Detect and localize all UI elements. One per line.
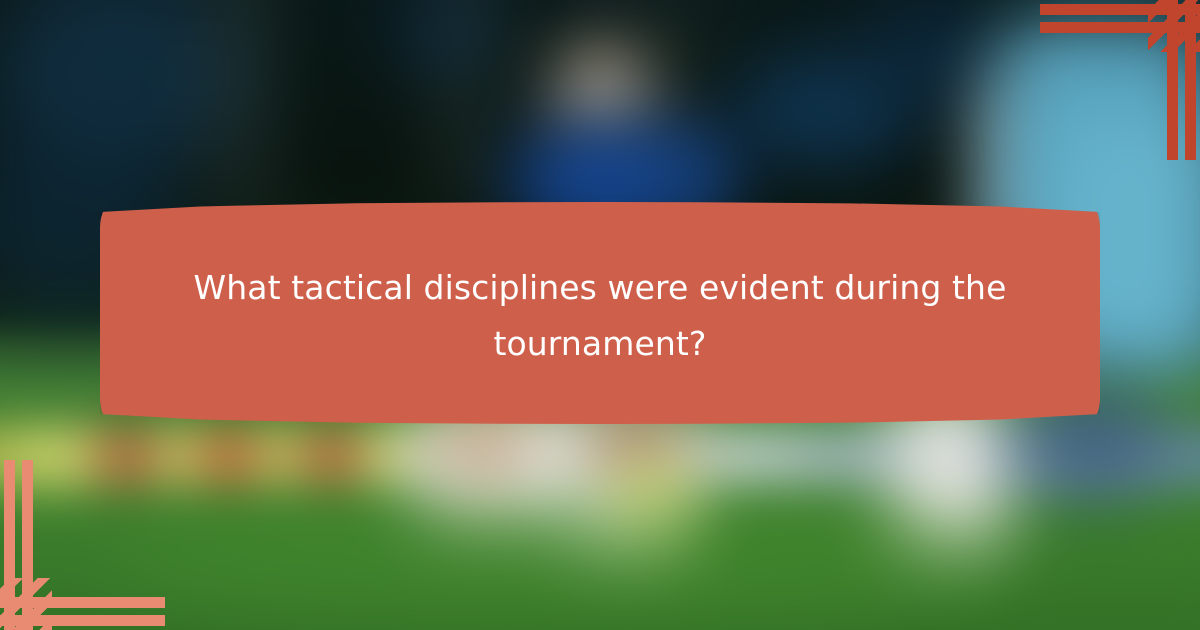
question-card-graphic: What tactical disciplines were evident d… [0, 0, 1200, 630]
question-card: What tactical disciplines were evident d… [100, 202, 1100, 424]
corner-bracket-top-right [1040, 0, 1200, 160]
bracket-hatch-pattern [0, 578, 52, 630]
bracket-hatch-pattern [1148, 0, 1200, 52]
corner-bracket-bottom-left [0, 460, 165, 630]
question-text: What tactical disciplines were evident d… [190, 254, 1010, 372]
